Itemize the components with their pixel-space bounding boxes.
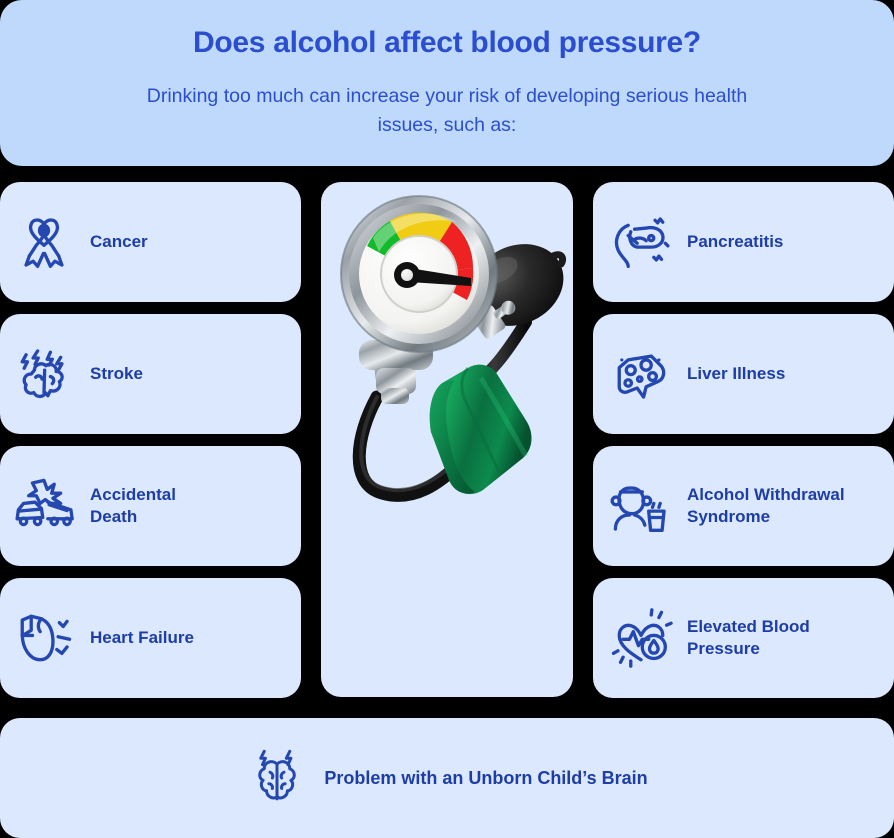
heart-failure-icon	[8, 602, 80, 674]
cards-grid: Cancer	[0, 182, 894, 697]
card-liver-illness[interactable]: Liver Illness	[593, 314, 894, 434]
brain-lightning-icon	[246, 747, 308, 809]
person-glass-icon	[605, 470, 677, 542]
heart-pressure-icon	[605, 602, 677, 674]
card-heart-failure[interactable]: Heart Failure	[0, 578, 301, 698]
card-elevated-blood-pressure[interactable]: Elevated Blood Pressure	[593, 578, 894, 698]
card-cancer[interactable]: Cancer	[0, 182, 301, 302]
card-label: Problem with an Unborn Child’s Brain	[324, 768, 647, 789]
infographic-page: Does alcohol affect blood pressure? Drin…	[0, 0, 894, 838]
card-label: Stroke	[90, 363, 143, 385]
center-column	[321, 182, 573, 697]
card-unborn-child-brain[interactable]: Problem with an Unborn Child’s Brain	[0, 718, 894, 838]
left-column: Cancer	[0, 182, 301, 697]
page-subtitle: Drinking too much can increase your risk…	[127, 82, 767, 141]
card-label: Elevated Blood Pressure	[687, 616, 810, 660]
card-pancreatitis[interactable]: Pancreatitis	[593, 182, 894, 302]
card-alcohol-withdrawal[interactable]: Alcohol Withdrawal Syndrome	[593, 446, 894, 566]
page-title: Does alcohol affect blood pressure?	[193, 26, 701, 60]
ribbon-icon	[8, 206, 80, 278]
right-column: Pancreatitis	[593, 182, 894, 697]
sphygmomanometer-illustration	[321, 182, 573, 697]
card-accidental-death[interactable]: Accidental Death	[0, 446, 301, 566]
card-label: Alcohol Withdrawal Syndrome	[687, 484, 845, 528]
liver-icon	[605, 338, 677, 410]
device-image-card	[321, 182, 573, 697]
card-label: Cancer	[90, 231, 148, 253]
card-label: Heart Failure	[90, 627, 194, 649]
pancreas-icon	[605, 206, 677, 278]
card-stroke[interactable]: Stroke	[0, 314, 301, 434]
card-label: Pancreatitis	[687, 231, 783, 253]
car-crash-icon	[8, 470, 80, 542]
brain-lightning-icon	[8, 338, 80, 410]
header-panel: Does alcohol affect blood pressure? Drin…	[0, 0, 894, 166]
card-label: Liver Illness	[687, 363, 785, 385]
card-label: Accidental Death	[90, 484, 176, 528]
